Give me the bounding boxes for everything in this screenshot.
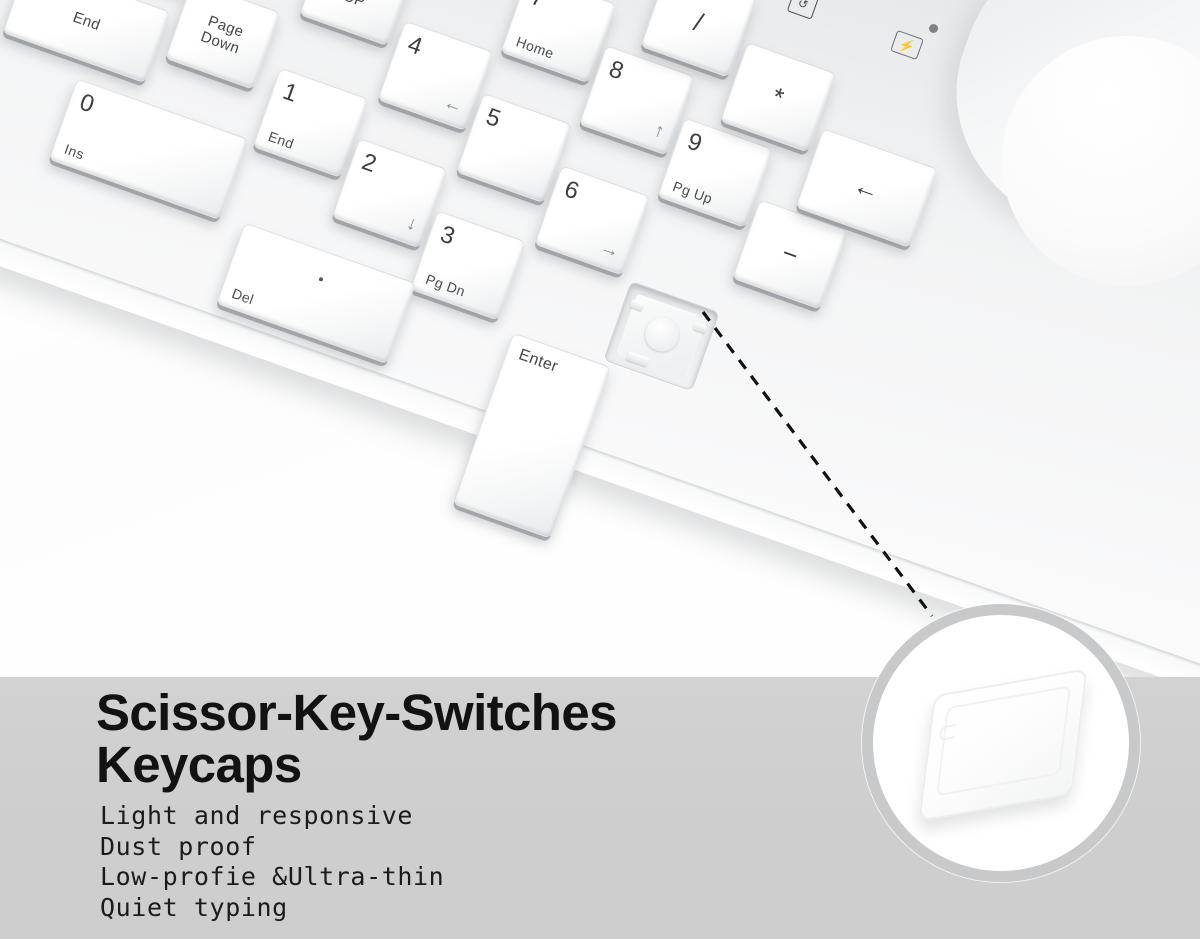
- key-numpad-9-sub: Pg Up: [671, 178, 715, 207]
- key-numpad-6-digit: 6: [561, 175, 583, 206]
- banner-text-block: Scissor-Key-Switches Keycaps Light and r…: [96, 687, 796, 923]
- list-item: Light and responsive: [100, 801, 796, 832]
- key-minus-label: −: [742, 225, 839, 285]
- key-numpad-4-digit: 4: [404, 31, 426, 62]
- headline: Scissor-Key-Switches Keycaps: [96, 687, 796, 791]
- key-numpad-3-sub: Pg Dn: [424, 271, 468, 300]
- key-numpad-0-digit: 0: [76, 89, 98, 120]
- key-numpad-7-digit: 7: [527, 0, 549, 14]
- keycap-underside-magnifier: [862, 604, 1140, 882]
- key-numpad-7-sub: Home: [514, 33, 556, 61]
- feature-list: Light and responsive Dust proof Low-prof…: [100, 801, 796, 923]
- key-numpad-9-digit: 9: [684, 128, 706, 159]
- key-numpad-2-digit: 2: [358, 148, 380, 179]
- key-page-down[interactable]: PageDown: [165, 0, 281, 90]
- key-numpad-enter-label: Enter: [516, 346, 560, 376]
- key-del-label: Del: [230, 285, 256, 307]
- list-item: Quiet typing: [100, 893, 796, 924]
- arrow-right-icon: →: [597, 236, 622, 263]
- key-page-down-label: PageDown: [174, 4, 272, 66]
- key-numpad-5-digit: 5: [482, 103, 504, 134]
- arrow-up-icon: ↑: [651, 120, 667, 144]
- function-lock-glyph: ↺: [796, 0, 809, 11]
- key-numpad-8-digit: 8: [605, 55, 627, 86]
- key-page-up-label: PageUP: [308, 0, 406, 23]
- key-numpad-1-digit: 1: [279, 78, 301, 109]
- key-multiply-label: *: [729, 67, 826, 127]
- key-numpad-1-sub: End: [266, 128, 296, 152]
- charging-bolt-glyph: ⚡: [897, 36, 917, 54]
- keyboard-photo: Shift ⇧ Enter PageUP PageDown End 0 Ins …: [0, 0, 1200, 680]
- decimal-dot-icon: [318, 277, 323, 282]
- product-marketing-image: Shift ⇧ Enter PageUP PageDown End 0 Ins …: [0, 0, 1200, 939]
- keycap-underside: [918, 668, 1087, 822]
- status-led: [929, 24, 938, 33]
- exposed-scissor-switch-socket: [603, 281, 720, 392]
- key-numpad-enter[interactable]: Enter: [452, 333, 611, 539]
- key-numpad-0[interactable]: 0 Ins: [48, 78, 248, 220]
- arrow-left-icon: ←: [440, 92, 465, 119]
- key-del[interactable]: Del: [216, 223, 416, 365]
- key-numpad-3-digit: 3: [436, 221, 458, 252]
- backspace-arrow-icon: ←: [805, 154, 928, 223]
- list-item: Dust proof: [100, 832, 796, 863]
- list-item: Low-profie &Ultra-thin: [100, 862, 796, 893]
- key-divide-label: /: [650, 0, 747, 52]
- key-numpad-0-sub: Ins: [62, 141, 86, 163]
- arrow-down-icon: ↓: [404, 212, 420, 236]
